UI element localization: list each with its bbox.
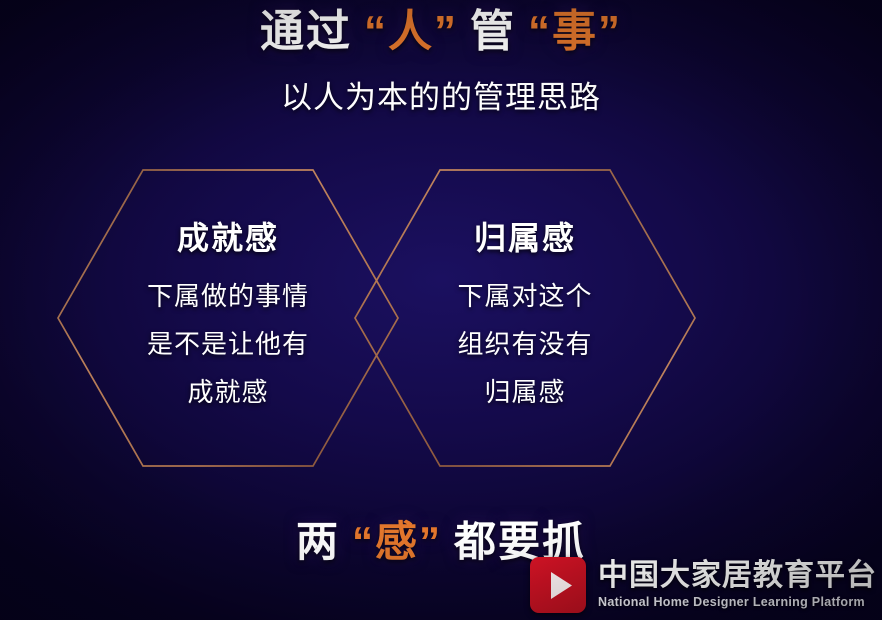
hexagon-right-line-2: 组织有没有 [355, 320, 695, 368]
play-triangle-icon [530, 557, 586, 613]
hexagon-left-line-1: 下属做的事情 [58, 272, 398, 320]
slide-canvas: 通过“人”管“事” 以人为本的的管理思路 成就感 下属做的事情 是不是让他有 成… [0, 0, 882, 620]
hexagon-right-line-3: 归属感 [355, 368, 695, 416]
hexagon-left-line-2: 是不是让他有 [58, 320, 398, 368]
brand-logo: 中国大家居教育平台 National Home Designer Learnin… [530, 557, 877, 613]
title-part-0: 通过 [260, 7, 352, 56]
slide-subtitle: 以人为本的的管理思路 [0, 76, 882, 120]
hexagon-left-content: 成就感 下属做的事情 是不是让他有 成就感 [58, 218, 398, 416]
footline-part-1: “感” [352, 518, 442, 565]
logo-name-cn: 中国大家居教育平台 [598, 559, 877, 593]
title-part-3: “事” [528, 7, 622, 56]
slide-title: 通过“人”管“事” [0, 4, 882, 60]
footline-part-0: 两 [296, 518, 340, 565]
hexagon-left-heading: 成就感 [58, 218, 398, 258]
hexagon-right-line-1: 下属对这个 [355, 272, 695, 320]
hexagon-left-line-3: 成就感 [58, 368, 398, 416]
title-part-1: “人” [364, 7, 458, 56]
title-part-2: 管 [470, 7, 516, 56]
logo-badge [530, 557, 586, 613]
logo-name-en: National Home Designer Learning Platform [598, 593, 877, 611]
hexagon-right-heading: 归属感 [355, 218, 695, 258]
logo-text-block: 中国大家居教育平台 National Home Designer Learnin… [598, 559, 877, 611]
hexagon-right-content: 归属感 下属对这个 组织有没有 归属感 [355, 218, 695, 416]
